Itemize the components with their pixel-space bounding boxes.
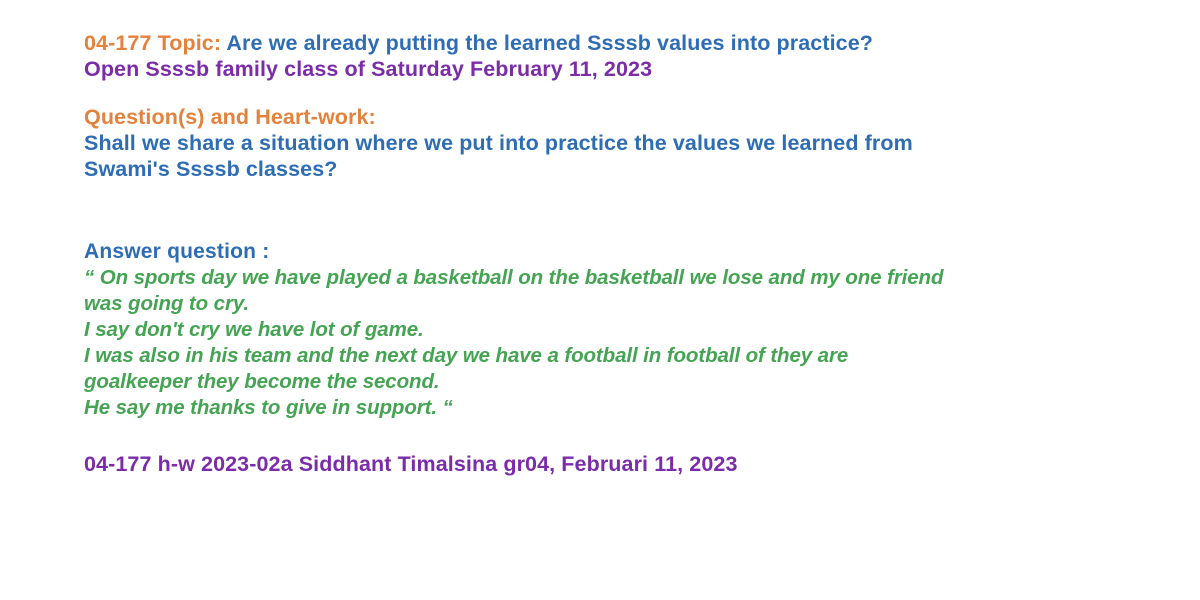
spacer-after-topic	[84, 82, 1160, 104]
topic-line: 04-177 Topic: Are we already putting the…	[84, 30, 1160, 56]
footer-attribution: 04-177 h-w 2023-02a Siddhant Timalsina g…	[84, 451, 1160, 477]
answer-line: goalkeeper they become the second.	[84, 369, 1129, 395]
answer-line: I was also in his team and the next day …	[84, 343, 1129, 369]
answer-line: was going to cry.	[84, 291, 1129, 317]
topic-label: 04-177 Topic:	[84, 31, 226, 55]
answer-block: Answer question : “ On sports day we hav…	[84, 238, 1160, 421]
answer-line: He say me thanks to give in support. “	[84, 395, 1129, 421]
footer-block: 04-177 h-w 2023-02a Siddhant Timalsina g…	[84, 451, 1160, 477]
answer-body: “ On sports day we have played a basketb…	[84, 265, 1129, 421]
topic-block: 04-177 Topic: Are we already putting the…	[84, 30, 1160, 82]
slide-canvas: 04-177 Topic: Are we already putting the…	[0, 0, 1200, 600]
question-label: Question(s) and Heart-work:	[84, 104, 1160, 130]
answer-line: I say don't cry we have lot of game.	[84, 317, 1129, 343]
answer-line: “ On sports day we have played a basketb…	[84, 265, 1129, 291]
question-block: Question(s) and Heart-work: Shall we sha…	[84, 104, 1160, 182]
question-line-1: Shall we share a situation where we put …	[84, 130, 1094, 156]
topic-question-text: Are we already putting the learned Ssssb…	[226, 31, 873, 55]
spacer-after-answer	[84, 421, 1160, 451]
topic-subtitle: Open Ssssb family class of Saturday Febr…	[84, 56, 1160, 82]
spacer-after-question	[84, 182, 1160, 238]
answer-label: Answer question :	[84, 238, 1160, 265]
question-line-2: Swami's Ssssb classes?	[84, 156, 1094, 182]
